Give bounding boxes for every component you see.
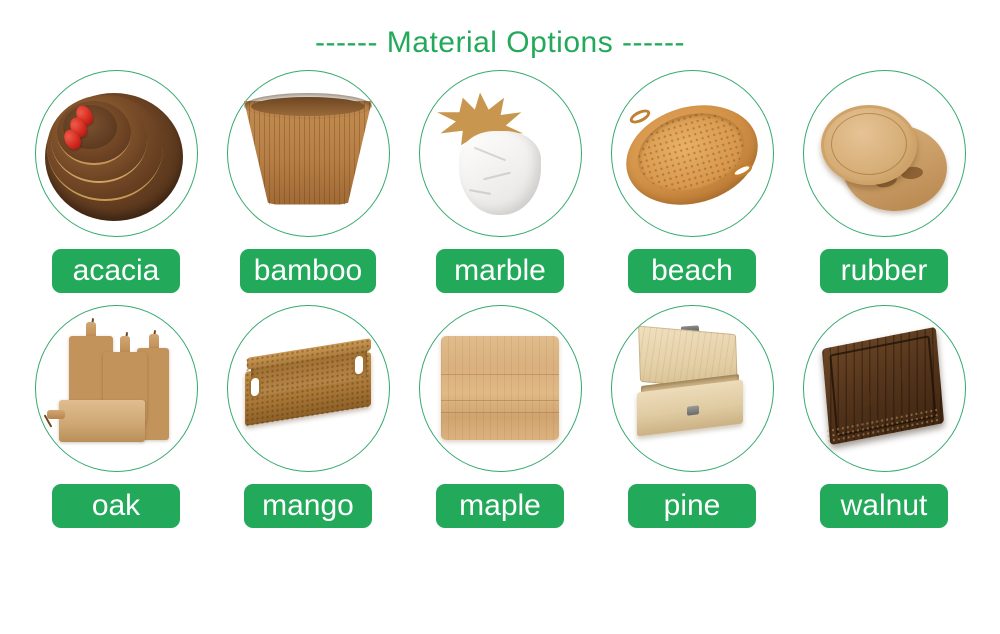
image-frame-bamboo <box>227 70 390 237</box>
material-cell-oak[interactable]: oak <box>32 305 200 528</box>
page-title: ------ Material Options ------ <box>315 26 685 59</box>
material-label-text: rubber <box>841 256 928 286</box>
image-frame-beach <box>611 70 774 237</box>
product-image-pine <box>617 314 767 464</box>
material-label-beach[interactable]: beach <box>628 249 756 293</box>
product-image-rubber <box>809 79 959 229</box>
material-label-pine[interactable]: pine <box>628 484 756 528</box>
image-frame-oak <box>35 305 198 472</box>
material-label-text: maple <box>459 491 541 521</box>
product-image-walnut <box>809 314 959 464</box>
material-label-bamboo[interactable]: bamboo <box>240 249 376 293</box>
material-cell-mango[interactable]: mango <box>224 305 392 528</box>
material-cell-maple[interactable]: maple <box>416 305 584 528</box>
product-image-maple <box>425 314 575 464</box>
material-label-acacia[interactable]: acacia <box>52 249 180 293</box>
material-label-text: bamboo <box>254 256 362 286</box>
material-label-walnut[interactable]: walnut <box>820 484 948 528</box>
material-row: acacia bamboo <box>0 70 1000 293</box>
material-cell-marble[interactable]: marble <box>416 70 584 293</box>
product-image-acacia <box>41 79 191 229</box>
image-frame-walnut <box>803 305 966 472</box>
image-frame-maple <box>419 305 582 472</box>
material-cell-acacia[interactable]: acacia <box>32 70 200 293</box>
material-row: oak mango <box>0 305 1000 528</box>
material-label-rubber[interactable]: rubber <box>820 249 948 293</box>
material-label-text: mango <box>262 491 354 521</box>
material-cell-walnut[interactable]: walnut <box>800 305 968 528</box>
tray-handle-cutout <box>249 375 261 399</box>
material-label-text: walnut <box>841 491 928 521</box>
tray-handle-cutout <box>353 353 365 377</box>
material-options-page: ------ Material Options ------ <box>0 0 1000 634</box>
material-label-maple[interactable]: maple <box>436 484 564 528</box>
material-label-text: marble <box>454 256 546 286</box>
product-image-oak <box>41 314 191 464</box>
image-frame-pine <box>611 305 774 472</box>
image-frame-acacia <box>35 70 198 237</box>
material-grid: acacia bamboo <box>0 70 1000 528</box>
box-lock-icon <box>687 405 699 415</box>
material-cell-beach[interactable]: beach <box>608 70 776 293</box>
material-cell-bamboo[interactable]: bamboo <box>224 70 392 293</box>
image-frame-mango <box>227 305 390 472</box>
material-label-text: acacia <box>73 256 160 286</box>
material-label-marble[interactable]: marble <box>436 249 564 293</box>
image-frame-rubber <box>803 70 966 237</box>
material-label-text: beach <box>651 256 733 286</box>
product-image-mango <box>233 314 383 464</box>
material-cell-pine[interactable]: pine <box>608 305 776 528</box>
material-label-mango[interactable]: mango <box>244 484 372 528</box>
material-label-oak[interactable]: oak <box>52 484 180 528</box>
material-cell-rubber[interactable]: rubber <box>800 70 968 293</box>
page-header: ------ Material Options ------ <box>0 0 1000 60</box>
material-label-text: pine <box>664 491 721 521</box>
material-label-text: oak <box>92 491 140 521</box>
product-image-beach <box>617 79 767 229</box>
product-image-marble <box>425 79 575 229</box>
product-image-bamboo <box>233 79 383 229</box>
image-frame-marble <box>419 70 582 237</box>
